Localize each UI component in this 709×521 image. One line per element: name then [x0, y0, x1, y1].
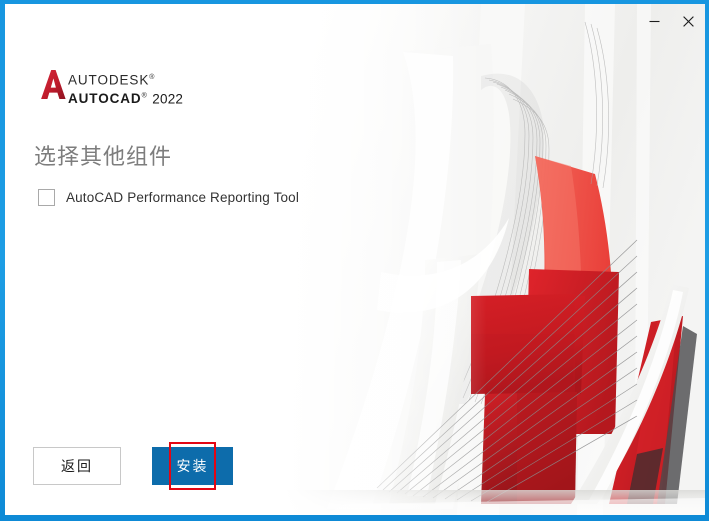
artwork-image [285, 4, 705, 515]
brand-logo: AUTODESK® AUTOCAD® 2022 [38, 68, 183, 107]
back-button[interactable]: 返回 [33, 447, 121, 485]
close-icon [682, 15, 695, 28]
component-checkbox-row[interactable]: AutoCAD Performance Reporting Tool [38, 189, 299, 206]
component-list: AutoCAD Performance Reporting Tool [38, 189, 299, 206]
titlebar-controls [637, 4, 705, 38]
minimize-button[interactable] [637, 6, 671, 36]
brand-version: 2022 [152, 91, 183, 106]
page-title: 选择其他组件 [34, 139, 172, 171]
component-label: AutoCAD Performance Reporting Tool [66, 190, 299, 205]
brand-company-text: AUTODESK [68, 73, 149, 88]
brand-company-trademark: ® [149, 74, 155, 81]
brand-product-text: AUTOCAD [68, 91, 142, 106]
close-button[interactable] [671, 6, 705, 36]
install-button[interactable]: 安装 [152, 447, 233, 485]
content-pane: AUTODESK® AUTOCAD® 2022 选择其他组件 AutoCAD P… [5, 4, 305, 515]
install-button-wrap: 安装 [152, 447, 233, 485]
brand-product-trademark: ® [142, 93, 148, 100]
installer-window: AUTODESK® AUTOCAD® 2022 选择其他组件 AutoCAD P… [0, 0, 709, 521]
brand-wordmark: AUTODESK® AUTOCAD® 2022 [68, 68, 183, 107]
minimize-icon [648, 15, 661, 28]
footer-actions: 返回 安装 [33, 447, 233, 485]
brand-company: AUTODESK® [68, 70, 183, 88]
brand-product-line: AUTOCAD® 2022 [68, 89, 183, 108]
artwork-panel [285, 4, 705, 515]
autodesk-a-icon [38, 68, 68, 101]
brand-product: AUTOCAD® [68, 91, 148, 106]
checkbox-performance-reporting-tool[interactable] [38, 189, 55, 206]
window-body: AUTODESK® AUTOCAD® 2022 选择其他组件 AutoCAD P… [5, 4, 705, 515]
